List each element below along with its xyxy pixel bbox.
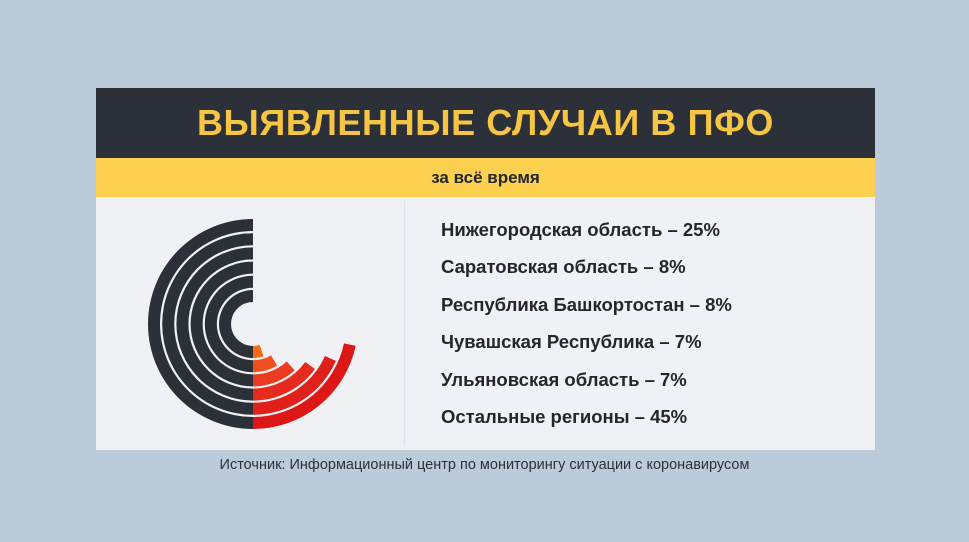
list-item: Нижегородская область – 25%: [441, 211, 875, 249]
source-note: Источник: Информационный центр по монито…: [0, 458, 969, 473]
list-item: Чувашская Республика – 7%: [441, 324, 875, 362]
concentric-ring-chart: [141, 209, 371, 439]
chart-pane: [96, 197, 404, 450]
ring-value-segment: [253, 344, 264, 357]
ring-value-segment: [253, 355, 277, 372]
infographic-canvas: ВЫЯВЛЕННЫЕ СЛУЧАИ В ПФО за всё время Ниж…: [0, 0, 969, 542]
list-item: Остальные регионы – 45%: [441, 399, 875, 437]
subtitle: за всё время: [431, 169, 540, 186]
legend-list: Нижегородская область – 25% Саратовская …: [405, 197, 875, 450]
header-bar: ВЫЯВЛЕННЫЕ СЛУЧАИ В ПФО: [96, 88, 875, 158]
infographic-card: ВЫЯВЛЕННЫЕ СЛУЧАИ В ПФО за всё время Ниж…: [96, 88, 875, 450]
list-item: Саратовская область – 8%: [441, 249, 875, 287]
subheader-bar: за всё время: [96, 158, 875, 197]
list-item: Республика Башкортостан – 8%: [441, 286, 875, 324]
content-area: Нижегородская область – 25% Саратовская …: [96, 197, 875, 450]
list-item: Ульяновская область – 7%: [441, 361, 875, 399]
page-title: ВЫЯВЛЕННЫЕ СЛУЧАИ В ПФО: [197, 105, 774, 141]
